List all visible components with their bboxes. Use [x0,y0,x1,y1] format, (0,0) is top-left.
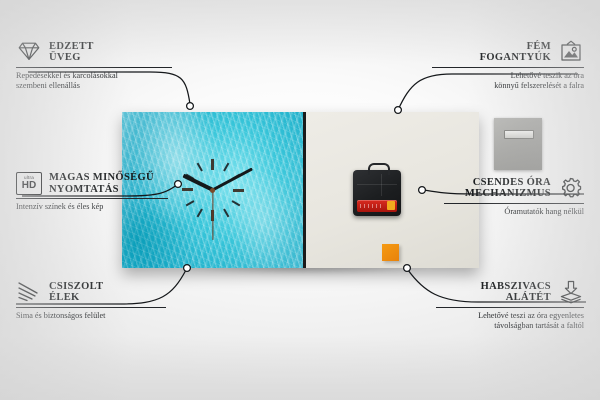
callout-title: MAGAS MINŐSÉGŰ NYOMTATÁS [49,172,154,195]
callout-header: EDZETT ÜVEG [16,40,172,64]
callout-habszivacs-alatet[interactable]: HABSZIVACS ALÁTÉT Lehetővé teszi az óra … [436,280,584,331]
callout-title: EDZETT ÜVEG [49,41,94,64]
product-image [122,112,479,268]
ultra-hd-badge-icon: ultra HD [16,172,42,195]
callout-description: Lehetővé teszik az óra könnyű felszerelé… [432,71,584,91]
callout-header: FÉM FOGANTYÚK [432,40,584,64]
diamond-icon [16,40,42,64]
callout-rule [432,67,584,68]
connector-dot-edzett-uveg [187,103,194,110]
callout-title: HABSZIVACS ALÁTÉT [481,281,551,304]
callout-description: Sima és biztonságos felület [16,311,166,321]
callout-title: CSENDES ÓRA MECHANIZMUS [465,177,551,200]
battery-label-stripes [360,204,384,208]
foam-pad [382,244,399,261]
foam-pad-arrow-icon [558,280,584,304]
picture-hanger-icon [558,40,584,64]
mechanism-seam-horizontal [357,184,397,185]
mechanism-seam-vertical [381,174,382,196]
callout-fem-fogantyuk[interactable]: FÉM FOGANTYÚK Lehetővé teszik az óra kön… [432,40,584,91]
polished-edges-icon [16,280,42,304]
battery [357,200,397,212]
callout-rule [16,67,172,68]
callout-description: Óramutatók hang nélkül [444,207,584,217]
callout-header: HABSZIVACS ALÁTÉT [436,280,584,304]
ultra-hd-badge-main-text: HD [22,181,36,192]
battery-positive-terminal [387,201,395,210]
quartz-mechanism [353,170,401,216]
gear-icon [558,176,584,200]
infographic-canvas: EDZETT ÜVEG Repedésekkel és karcolásokka… [0,0,600,400]
callout-title: CSISZOLT ÉLEK [49,281,103,304]
callout-header: CSENDES ÓRA MECHANIZMUS [444,176,584,200]
callout-rule [436,307,584,308]
callout-edzett-uveg[interactable]: EDZETT ÜVEG Repedésekkel és karcolásokka… [16,40,172,91]
callout-title: FÉM FOGANTYÚK [480,41,551,64]
callout-header: CSISZOLT ÉLEK [16,280,166,304]
callout-csendes-ora-mechanizmus[interactable]: CSENDES ÓRA MECHANIZMUS Óramutatók hang … [444,176,584,217]
callout-rule [16,198,168,199]
callout-magas-minosegu-nyomtatas[interactable]: ultra HD MAGAS MINŐSÉGŰ NYOMTATÁS Intenz… [16,172,168,212]
callout-rule [16,307,166,308]
metal-hanger-plate [494,118,542,170]
callout-rule [444,203,584,204]
callout-header: ultra HD MAGAS MINŐSÉGŰ NYOMTATÁS [16,172,168,195]
mechanism-hanging-loop [368,163,390,175]
clock-second-hand [212,190,213,240]
callout-description: Intenzív színek és éles kép [16,202,168,212]
callout-csiszolt-elek[interactable]: CSISZOLT ÉLEK Sima és biztonságos felüle… [16,280,166,321]
callout-description: Lehetővé teszi az óra egyenletes távolsá… [436,311,584,331]
callout-description: Repedésekkel és karcolásokkal szembeni e… [16,71,172,91]
clock-center-cap [210,188,215,193]
hanger-slot [504,130,534,139]
